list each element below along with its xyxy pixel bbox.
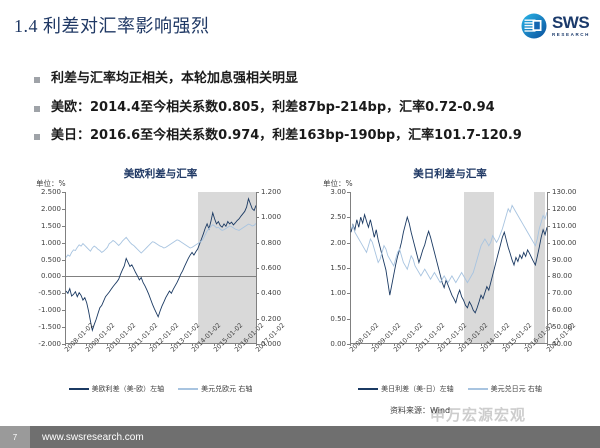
- y-axis-tick-mark: [347, 268, 350, 269]
- y-axis-tick-left: 3.00: [330, 188, 346, 196]
- y-axis-tick-mark: [547, 344, 550, 345]
- x-axis-tick-mark: [481, 343, 482, 346]
- y-axis-tick-right: 100.00: [552, 239, 577, 247]
- series-layer: [66, 192, 256, 343]
- series-layer: [351, 192, 547, 343]
- y-axis-tick-left: -0.500: [38, 289, 61, 297]
- footer-bar: 7 www.swsresearch.com: [0, 426, 600, 448]
- bullet-text: 利差与汇率均正相关，本轮加息强相关明显: [51, 70, 298, 88]
- page-title: 1.4 利差对汇率影响强烈: [14, 12, 210, 38]
- x-axis-tick-mark: [350, 343, 351, 346]
- x-axis-tick-mark: [192, 343, 193, 346]
- y-axis-tick-mark: [347, 217, 350, 218]
- legend-label: 美欧利差（美-欧）左轴: [92, 384, 165, 394]
- bullet-text: 美日：2016.6至今相关系数0.974，利差163bp-190bp，汇率101…: [51, 127, 522, 145]
- chart-title: 美日利差与汇率: [305, 166, 595, 181]
- y-axis-tick-right: 60.00: [552, 306, 572, 314]
- y-axis-tick-mark: [62, 243, 65, 244]
- list-item: 美日：2016.6至今相关系数0.974，利差163bp-190bp，汇率101…: [34, 127, 574, 145]
- charts-area: 单位：% 美欧利差与汇率 2008-01-022009-01-022010-01…: [0, 162, 600, 412]
- legend-item[interactable]: 美元兑欧元 右轴: [178, 384, 252, 394]
- series-line: [66, 223, 256, 257]
- legend-label: 美元兑欧元 右轴: [201, 384, 252, 394]
- y-axis-tick-left: 2.000: [41, 205, 61, 213]
- y-axis-tick-left: 2.00: [330, 239, 346, 247]
- y-axis-tick-left: -1.000: [38, 306, 61, 314]
- x-axis-tick-mark: [65, 343, 66, 346]
- y-axis-tick-mark: [62, 293, 65, 294]
- y-axis-tick-left: 0.50: [330, 315, 346, 323]
- sws-logo-name: SWS: [552, 14, 590, 31]
- y-axis-tick-left: 2.500: [41, 188, 61, 196]
- plot-area: [65, 192, 256, 344]
- legend-label: 美元兑日元 右轴: [491, 384, 542, 394]
- y-axis-tick-right: 130.00: [552, 188, 577, 196]
- x-axis-tick-mark: [86, 343, 87, 346]
- y-axis-tick-mark: [62, 226, 65, 227]
- y-axis-tick-right: 1.200: [261, 188, 281, 196]
- x-axis-tick-mark: [525, 343, 526, 346]
- sws-logo: SWS RESEARCH: [520, 12, 590, 40]
- y-axis-tick-mark: [62, 192, 65, 193]
- y-axis-tick-mark: [347, 192, 350, 193]
- series-line: [351, 205, 547, 282]
- y-axis-tick-left: -1.500: [38, 323, 61, 331]
- y-axis-tick-right: 110.00: [552, 222, 577, 230]
- y-axis-tick-mark: [62, 276, 65, 277]
- y-axis-tick-right: 90.00: [552, 256, 572, 264]
- chart-legend: 美欧利差（美-欧）左轴美元兑欧元 右轴: [18, 384, 303, 394]
- x-axis-tick-mark: [171, 343, 172, 346]
- x-axis-tick-mark: [438, 343, 439, 346]
- y-axis-tick-left: 1.00: [330, 289, 346, 297]
- y-axis-tick-left: 2.50: [330, 213, 346, 221]
- legend-swatch: [69, 388, 89, 390]
- legend-item[interactable]: 美欧利差（美-欧）左轴: [69, 384, 165, 394]
- y-axis-tick-left: 1.000: [41, 239, 61, 247]
- x-axis-tick-mark: [235, 343, 236, 346]
- plot-area: [350, 192, 547, 344]
- chart-title: 美欧利差与汇率: [18, 166, 303, 181]
- y-axis-tick-right: 1.000: [261, 213, 281, 221]
- y-axis-tick-mark: [347, 293, 350, 294]
- y-axis-tick-mark: [62, 310, 65, 311]
- y-axis-tick-left: 0.00: [330, 340, 346, 348]
- legend-swatch: [358, 388, 378, 390]
- page-number: 7: [13, 433, 17, 442]
- footer-url[interactable]: www.swsresearch.com: [42, 426, 144, 448]
- legend-item[interactable]: 美日利差（美-日）左轴: [358, 384, 454, 394]
- y-axis-tick-mark: [347, 243, 350, 244]
- x-axis-tick-mark: [459, 343, 460, 346]
- bullet-text: 美欧：2014.4至今相关系数0.805，利差87bp-214bp，汇率0.72…: [51, 99, 495, 117]
- y-axis-tick-right: 0.000: [261, 340, 281, 348]
- legend-swatch: [178, 388, 198, 390]
- bullet-square-icon: [34, 77, 40, 83]
- bullet-square-icon: [34, 134, 40, 140]
- list-item: 美欧：2014.4至今相关系数0.805，利差87bp-214bp，汇率0.72…: [34, 99, 574, 117]
- legend-item[interactable]: 美元兑日元 右轴: [468, 384, 542, 394]
- bullet-square-icon: [34, 106, 40, 112]
- y-axis-tick-mark: [62, 344, 65, 345]
- y-axis-tick-left: 0.000: [41, 272, 61, 280]
- y-axis-tick-mark: [347, 344, 350, 345]
- chart-us-eu: 单位：% 美欧利差与汇率 2008-01-022009-01-022010-01…: [18, 162, 303, 412]
- series-line: [66, 199, 256, 331]
- x-axis-tick-mark: [394, 343, 395, 346]
- list-item: 利差与汇率均正相关，本轮加息强相关明显: [34, 70, 574, 88]
- y-axis-tick-mark: [62, 260, 65, 261]
- chart-legend: 美日利差（美-日）左轴美元兑日元 右轴: [305, 384, 595, 394]
- y-axis-tick-mark: [62, 327, 65, 328]
- y-axis-tick-left: 1.500: [41, 222, 61, 230]
- slide: 1.4 利差对汇率影响强烈: [0, 0, 600, 448]
- y-axis-tick-mark: [62, 209, 65, 210]
- x-axis-tick-mark: [150, 343, 151, 346]
- y-axis-tick-left: -2.000: [38, 340, 61, 348]
- y-axis-tick-mark: [347, 319, 350, 320]
- y-axis-tick-right: 0.200: [261, 315, 281, 323]
- y-axis-tick-right: 50.00: [552, 323, 572, 331]
- y-axis-tick-right: 40.00: [552, 340, 572, 348]
- y-axis-tick-left: 0.500: [41, 256, 61, 264]
- sws-logo-text: SWS RESEARCH: [552, 14, 590, 38]
- page-number-box: 7: [0, 426, 30, 448]
- x-axis-tick-mark: [107, 343, 108, 346]
- sws-logo-mark: [520, 12, 548, 40]
- y-axis-tick-right: 120.00: [552, 205, 577, 213]
- chart-us-jp: 单位：% 美日利差与汇率 2008-01-022009-01-022010-01…: [305, 162, 595, 412]
- bullet-list: 利差与汇率均正相关，本轮加息强相关明显 美欧：2014.4至今相关系数0.805…: [34, 70, 574, 156]
- y-axis-tick-right: 0.600: [261, 264, 281, 272]
- y-axis-tick-right: 0.800: [261, 239, 281, 247]
- legend-swatch: [468, 388, 488, 390]
- y-axis-tick-left: 1.50: [330, 264, 346, 272]
- series-line: [351, 215, 547, 313]
- x-axis-tick-mark: [372, 343, 373, 346]
- source-note: 资料来源：Wind: [390, 405, 450, 416]
- legend-label: 美日利差（美-日）左轴: [381, 384, 454, 394]
- x-axis-tick-mark: [503, 343, 504, 346]
- right-axis-spine: [547, 192, 548, 344]
- y-axis-tick-right: 70.00: [552, 289, 572, 297]
- x-axis-tick-mark: [416, 343, 417, 346]
- y-axis-tick-mark: [256, 344, 259, 345]
- y-axis-tick-right: 80.00: [552, 272, 572, 280]
- y-axis-tick-right: 0.400: [261, 289, 281, 297]
- x-axis-tick-mark: [214, 343, 215, 346]
- right-axis-spine: [256, 192, 257, 344]
- sws-logo-subtitle: RESEARCH: [552, 33, 590, 38]
- x-axis-tick-mark: [129, 343, 130, 346]
